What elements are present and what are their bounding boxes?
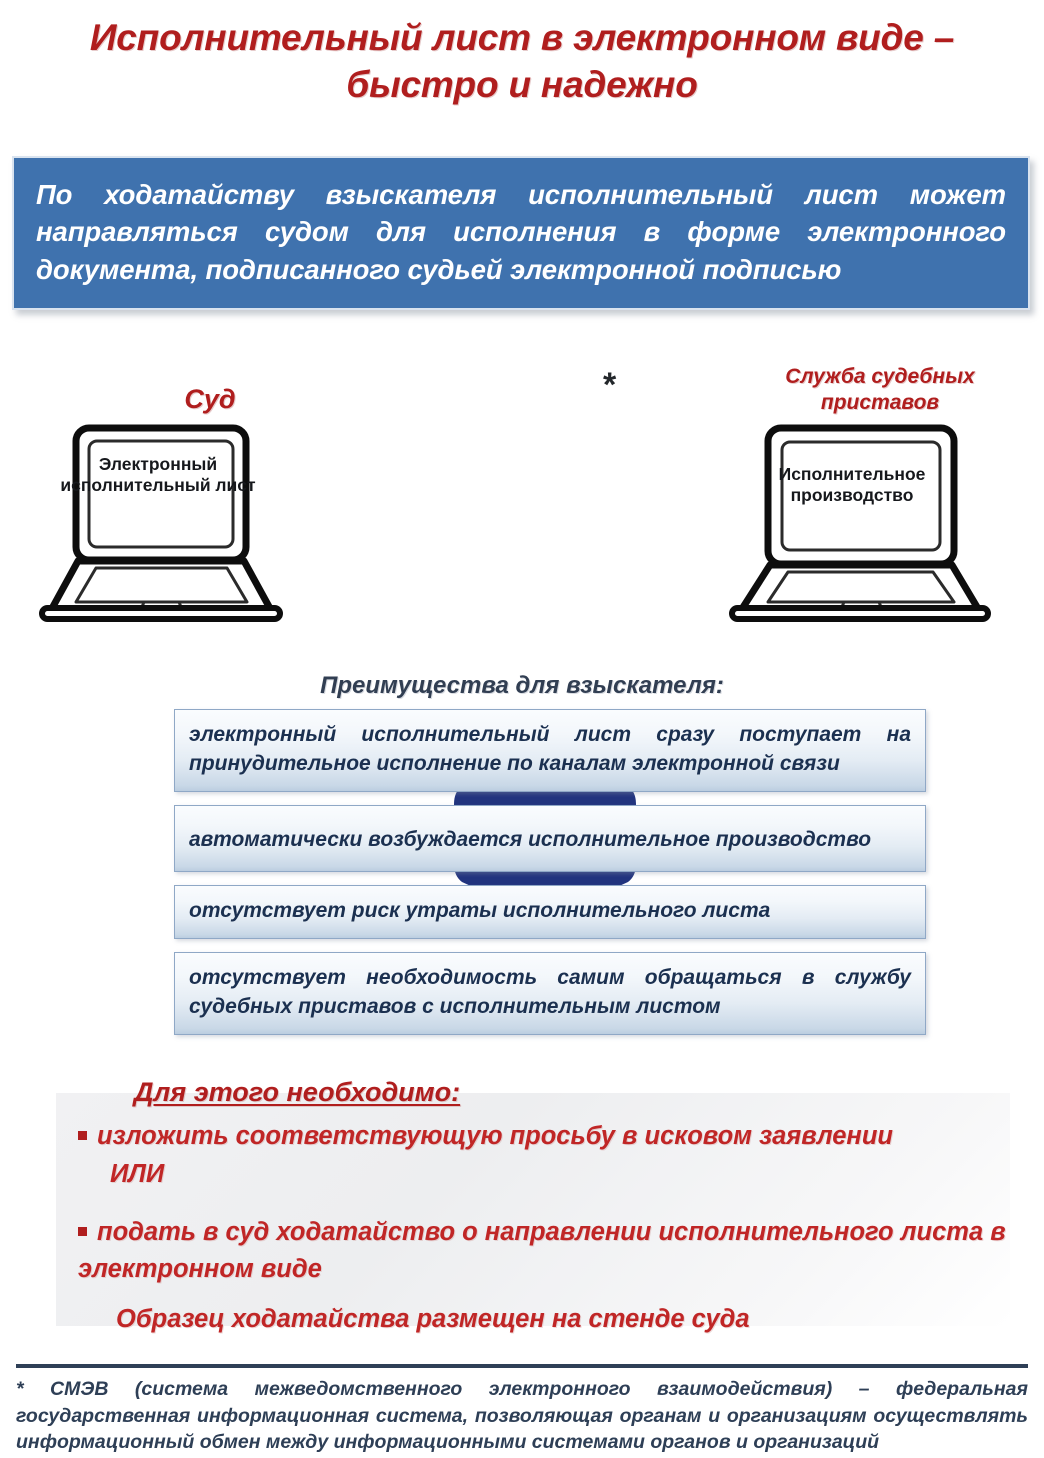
bailiff-service-label: Служба судебных приставов	[730, 364, 1030, 417]
advantage-item: автоматически возбуждается исполнительно…	[174, 805, 926, 872]
laptop-icon	[718, 422, 1000, 622]
page-title-line-2: быстро и надежно	[0, 61, 1044, 108]
advantage-item: отсутствует необходимость самим обращать…	[174, 952, 926, 1035]
page-title-line-1: Исполнительный лист в электронном виде –	[0, 14, 1044, 61]
advantage-item-text: автоматически возбуждается исполнительно…	[189, 826, 911, 855]
advantage-item-text: электронный исполнительный лист сразу по…	[189, 721, 911, 779]
intro-banner: По ходатайству взыскателя исполнительный…	[12, 156, 1030, 310]
footnote-divider	[16, 1364, 1028, 1368]
bailiff-laptop: Исполнительное производство	[718, 422, 1000, 622]
requirements-heading: Для этого необходимо:	[134, 1077, 460, 1108]
requirement-item-1: изложить соответствующую просьбу в исков…	[78, 1118, 1008, 1154]
requirement-item-2: подать в суд ходатайство о направлении и…	[78, 1214, 1008, 1286]
court-label: Суд	[120, 384, 300, 415]
advantages-list: электронный исполнительный лист сразу по…	[174, 709, 926, 1048]
advantage-item: электронный исполнительный лист сразу по…	[174, 709, 926, 792]
court-laptop: Электронный исполнительный лист	[28, 422, 290, 622]
advantage-item: отсутствует риск утраты исполнительного …	[174, 885, 926, 939]
laptop-icon	[28, 422, 290, 622]
advantage-item-text: отсутствует риск утраты исполнительного …	[189, 897, 911, 926]
requirements-body: изложить соответствующую просьбу в исков…	[78, 1118, 1008, 1337]
advantages-heading: Преимущества для взыскателя:	[0, 672, 1044, 700]
requirement-or: ИЛИ	[110, 1156, 1008, 1192]
bullet-icon	[78, 1227, 87, 1236]
requirement-item-2-text: подать в суд ходатайство о направлении и…	[78, 1218, 1006, 1282]
advantage-item-text: отсутствует необходимость самим обращать…	[189, 964, 911, 1022]
intro-banner-box: По ходатайству взыскателя исполнительный…	[12, 156, 1030, 310]
page-title: Исполнительный лист в электронном виде –…	[0, 14, 1044, 109]
asterisk-marker: *	[603, 368, 616, 402]
intro-banner-text: По ходатайству взыскателя исполнительный…	[36, 176, 1006, 288]
requirement-item-1-text: изложить соответствующую просьбу в исков…	[97, 1122, 893, 1150]
footnote: * СМЭВ (система межведомственного электр…	[16, 1376, 1028, 1456]
footnote-text: * СМЭВ (система межведомственного электр…	[16, 1376, 1028, 1456]
requirement-note: Образец ходатайства размещен на стенде с…	[116, 1301, 1008, 1337]
bullet-icon	[78, 1131, 87, 1140]
process-diagram: Суд Служба судебных приставов * Электрон…	[0, 350, 1044, 640]
